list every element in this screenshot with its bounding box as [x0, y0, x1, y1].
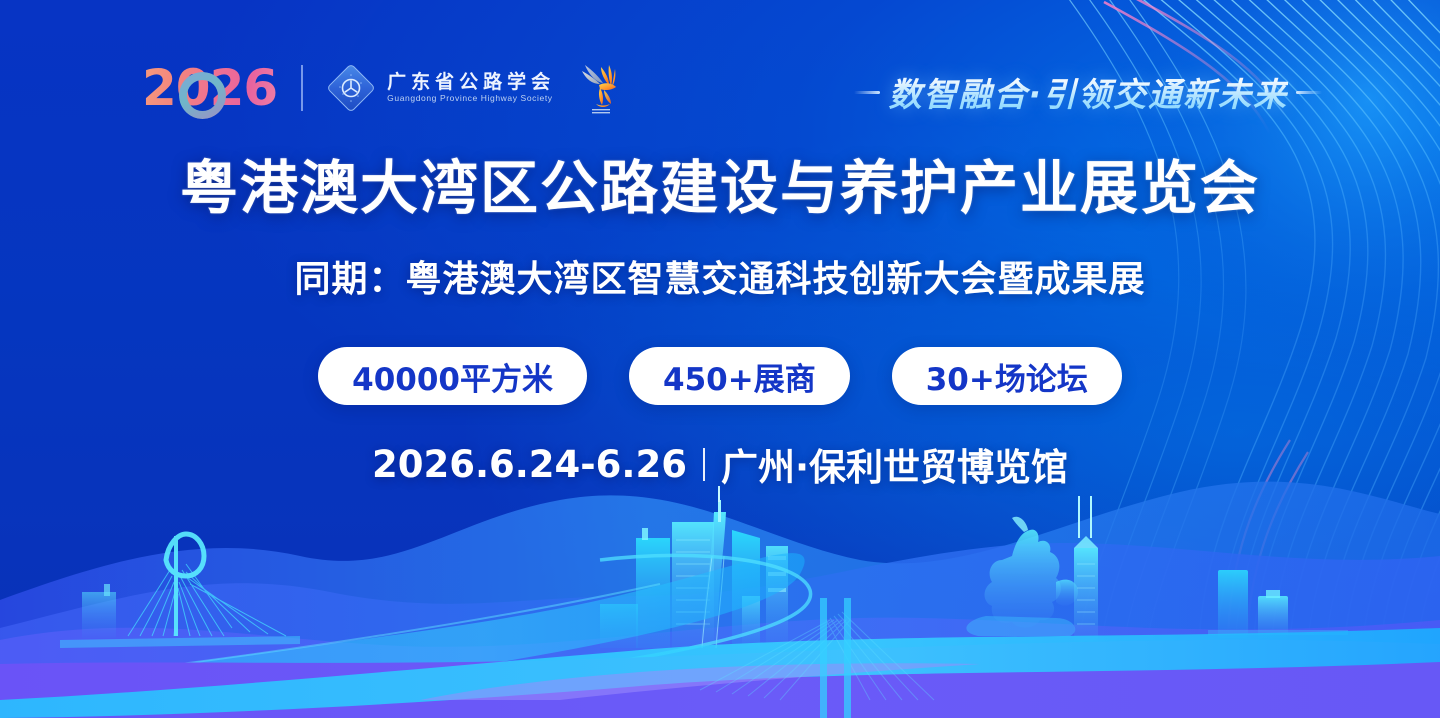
- year-logo-ring-icon: [179, 72, 226, 119]
- slogan-line-right: [1296, 91, 1322, 94]
- logo-divider: [301, 65, 303, 111]
- right-tower-buildings: [1074, 496, 1348, 648]
- slogan-line-left: [854, 91, 880, 94]
- stat-pill-exhibitors-label: 450+展商: [663, 354, 816, 399]
- event-date: 2026.6.24-6.26: [372, 443, 687, 486]
- stat-pill-forums-label: 30+场论坛: [926, 354, 1088, 399]
- logo-group: 2026: [142, 56, 621, 120]
- date-venue-bar: 2026.6.24-6.26 广州·保利世贸博览馆: [0, 437, 1440, 491]
- date-venue-separator: [703, 448, 705, 481]
- page-subtitle: 同期：粤港澳大湾区智慧交通科技创新大会暨成果展: [0, 250, 1440, 302]
- year-logo: 2026: [142, 63, 277, 113]
- stat-pill-group: 40000平方米 450+展商 30+场论坛: [0, 347, 1440, 405]
- event-banner: 2026: [0, 0, 1440, 718]
- stat-pill-exhibitors[interactable]: 450+展商: [629, 347, 850, 405]
- slogan-text: 数智融合·引领交通新未来: [888, 68, 1288, 116]
- banner-header: 2026: [0, 0, 1440, 150]
- stat-pill-area[interactable]: 40000平方米: [318, 347, 587, 405]
- highway-society-diamond-icon: [325, 62, 377, 114]
- canton-tower-icon: [700, 486, 726, 648]
- society-text: 广东省公路学会 Guangdong Province Highway Socie…: [387, 73, 555, 104]
- slogan-group: 数智融合·引领交通新未来: [854, 68, 1322, 116]
- page-title: 粤港澳大湾区公路建设与养护产业展览会: [0, 155, 1440, 222]
- stat-pill-forums[interactable]: 30+场论坛: [892, 347, 1122, 405]
- highway-ribbon-icon: [0, 553, 811, 718]
- stat-pill-area-label: 40000平方米: [352, 354, 553, 399]
- society-name-cn: 广东省公路学会: [387, 73, 555, 93]
- society-logo: 广东省公路学会 Guangdong Province Highway Socie…: [325, 59, 621, 117]
- cable-stayed-bridge-silhouette: [60, 534, 300, 648]
- society-name-en: Guangdong Province Highway Society: [387, 93, 555, 103]
- event-venue: 广州·保利世贸博览馆: [721, 437, 1068, 491]
- five-rams-statue-icon: [966, 517, 1078, 636]
- phoenix-bird-icon: [579, 59, 621, 117]
- guangzhou-skyline-silhouette: [600, 486, 788, 648]
